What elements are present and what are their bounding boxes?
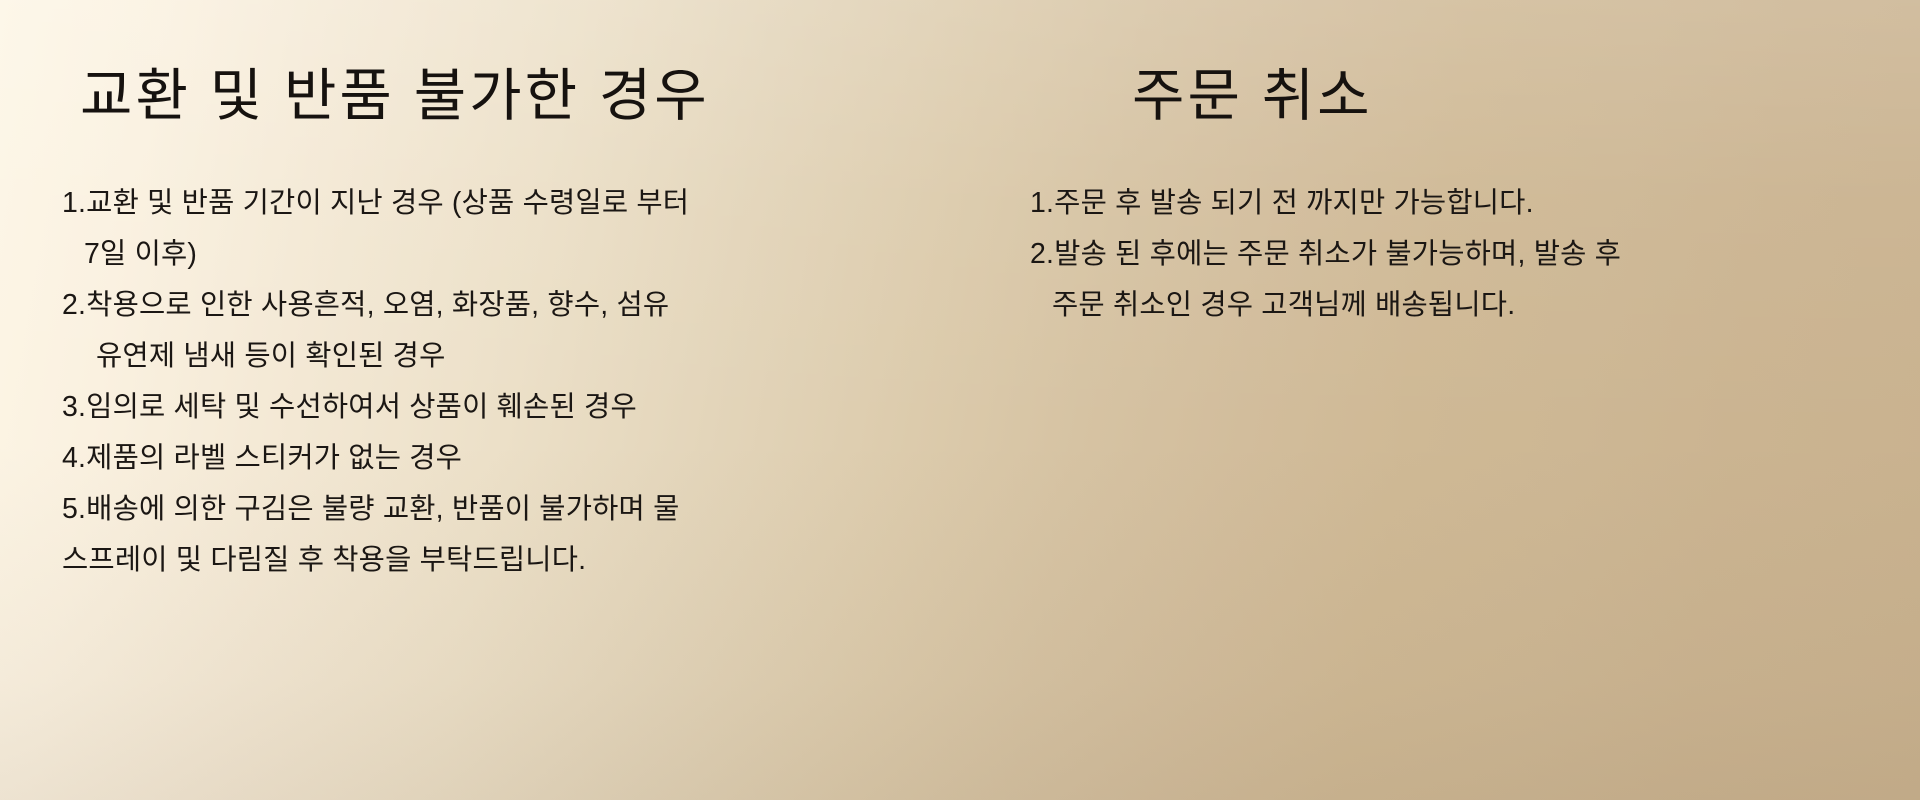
policy-line: 4.제품의 라벨 스티커가 없는 경우 [62,433,1000,484]
column-title-order-cancel: 주문 취소 [1010,0,1920,125]
notice-board: 교환 및 반품 불가한 경우 1.교환 및 반품 기간이 지난 경우 (상품 수… [0,0,1920,800]
policy-line: 2.착용으로 인한 사용흔적, 오염, 화장품, 향수, 섬유 [62,280,1000,331]
policy-line: 주문 취소인 경우 고객님께 배송됩니다. [1030,280,1920,331]
policy-line: 1.주문 후 발송 되기 전 까지만 가능합니다. [1030,178,1920,229]
column-title-exchange-return: 교환 및 반품 불가한 경우 [62,0,1000,125]
notice-columns: 교환 및 반품 불가한 경우 1.교환 및 반품 기간이 지난 경우 (상품 수… [0,0,1920,800]
column-order-cancel: 주문 취소 1.주문 후 발송 되기 전 까지만 가능합니다. 2.발송 된 후… [1000,0,1920,800]
policy-list-exchange-return: 1.교환 및 반품 기간이 지난 경우 (상품 수령일로 부터 7일 이후) 2… [62,178,1000,586]
policy-line: 2.발송 된 후에는 주문 취소가 불가능하며, 발송 후 [1030,229,1920,280]
column-exchange-return-not-allowed: 교환 및 반품 불가한 경우 1.교환 및 반품 기간이 지난 경우 (상품 수… [0,0,1000,800]
policy-line: 7일 이후) [62,229,1000,280]
policy-line: 3.임의로 세탁 및 수선하여서 상품이 훼손된 경우 [62,382,1000,433]
policy-line: 유연제 냄새 등이 확인된 경우 [62,331,1000,382]
policy-line: 5.배송에 의한 구김은 불량 교환, 반품이 불가하며 물 [62,484,1000,535]
policy-list-order-cancel: 1.주문 후 발송 되기 전 까지만 가능합니다. 2.발송 된 후에는 주문 … [1010,178,1920,331]
policy-line: 스프레이 및 다림질 후 착용을 부탁드립니다. [62,535,1000,586]
policy-line: 1.교환 및 반품 기간이 지난 경우 (상품 수령일로 부터 [62,178,1000,229]
